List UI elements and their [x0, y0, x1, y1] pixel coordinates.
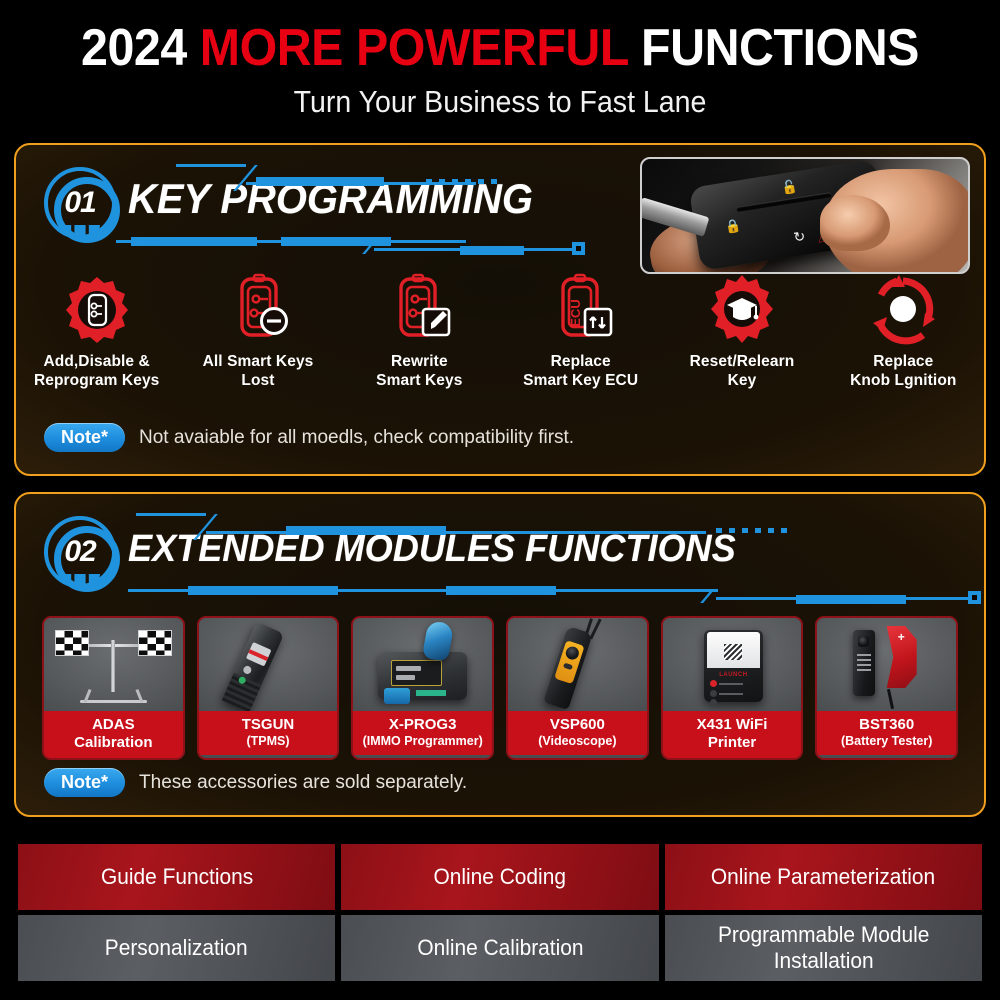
feature-label-line1: Rewrite — [391, 353, 448, 370]
product-caption: X431 WiFi Printer — [663, 711, 802, 758]
grid-cell-label: Online Coding — [434, 864, 566, 890]
product-name: ADAS — [46, 716, 181, 734]
decor-line-step-top — [176, 164, 246, 167]
note-text: Not avaiable for all moedls, check compa… — [139, 427, 574, 449]
printer-label-line-2 — [719, 693, 742, 695]
decor-line-step-top — [136, 513, 206, 516]
vsp600-body — [543, 626, 592, 710]
bst360-button — [858, 636, 869, 647]
product-subtitle: (Videoscope) — [510, 734, 645, 749]
printer-label-line-1 — [719, 683, 742, 685]
decor-line-thick-top — [286, 526, 446, 535]
feature-label-line2: Smart Key ECU — [523, 372, 638, 389]
feature-label-line1: Replace — [873, 353, 933, 370]
section-01-note: Note* Not avaiable for all moedls, check… — [44, 423, 574, 452]
feature-label-line1: Replace — [551, 353, 611, 370]
feature-replace-smart-key-ecu[interactable]: ECU Replace Smart Key ECU — [500, 273, 661, 391]
decor-line-thick-bottom-3 — [460, 246, 524, 255]
tsgun-tpms-tool-image — [199, 618, 338, 711]
grid-cell-online-calibration[interactable]: Online Calibration — [341, 915, 658, 981]
printer-button-2 — [710, 699, 717, 706]
grid-cell-guide-functions[interactable]: Guide Functions — [18, 844, 335, 910]
gear-with-key-fob-icon — [16, 273, 177, 345]
decor-line-thin-bottom-2 — [358, 589, 718, 592]
product-card-row: ADAS Calibration TSGUN (TPMS) — [42, 616, 958, 760]
printer-power-led — [710, 680, 717, 687]
x431-wifi-printer-image: LAUNCH — [663, 618, 802, 711]
xprog3-contact-row-2 — [396, 675, 416, 680]
function-grid: Guide Functions Online Coding Online Par… — [18, 844, 982, 981]
vsp600-videoscope-image — [508, 618, 647, 711]
feature-label-line2: Key — [728, 372, 757, 389]
key-fob-photo: 🔒 🔓 ⚓ ↻ △ — [640, 157, 970, 274]
feature-label: Replace Knob Lgnition — [823, 353, 984, 391]
product-card-xprog3[interactable]: X-PROG3 (IMMO Programmer) — [351, 616, 494, 760]
feature-label: All Smart Keys Lost — [177, 353, 338, 391]
product-name: X431 WiFi — [665, 716, 800, 734]
section-02-number: 02 — [48, 520, 112, 584]
page-header: 2024 MORE POWERFUL FUNCTIONS Turn Your B… — [0, 0, 1000, 120]
feature-label-line2: Smart Keys — [376, 372, 462, 389]
product-caption: BST360 (Battery Tester) — [817, 711, 956, 755]
bst360-label — [857, 654, 871, 674]
decor-line-dots — [716, 528, 794, 533]
note-badge: Note* — [44, 423, 125, 452]
decor-line-thick-bottom-3 — [796, 595, 906, 604]
note-text: These accessories are sold separately. — [139, 772, 467, 794]
feature-label: Rewrite Smart Keys — [339, 353, 500, 391]
page-subtitle: Turn Your Business to Fast Lane — [40, 84, 960, 120]
key-fob-pencil-icon — [339, 273, 500, 345]
feature-all-smart-keys-lost[interactable]: All Smart Keys Lost — [177, 273, 338, 391]
tsgun-button — [242, 665, 253, 676]
product-name: X-PROG3 — [355, 716, 490, 734]
grid-cell-online-parameterization[interactable]: Online Parameterization — [665, 844, 982, 910]
adas-target-left — [55, 630, 89, 656]
decor-line-thick-top — [256, 177, 384, 186]
lock-icon: 🔒 — [724, 219, 742, 234]
xprog3-body — [378, 652, 467, 700]
x-prog3-immo-programmer-image — [353, 618, 492, 711]
feature-rewrite-smart-keys[interactable]: Rewrite Smart Keys — [339, 273, 500, 391]
feature-label: Add,Disable & Reprogram Keys — [16, 353, 177, 391]
note-badge: Note* — [44, 768, 125, 797]
page-title-emphasis: MORE POWERFUL — [200, 19, 628, 77]
product-card-adas[interactable]: ADAS Calibration — [42, 616, 185, 760]
section-extended-modules: 02 EXTENDED MODULES FUNCTIONS — [14, 492, 986, 817]
product-caption: TSGUN (TPMS) — [199, 711, 338, 755]
printer-paper — [707, 632, 761, 668]
grid-cell-online-coding[interactable]: Online Coding — [341, 844, 658, 910]
xprog3-contact-row — [396, 666, 422, 671]
grid-cell-personalization[interactable]: Personalization — [18, 915, 335, 981]
promo-page: 2024 MORE POWERFUL FUNCTIONS Turn Your B… — [0, 0, 1000, 1000]
feature-add-disable-reprogram[interactable]: Add,Disable & Reprogram Keys — [16, 273, 177, 391]
feature-label: Reset/Relearn Key — [661, 353, 822, 391]
adas-pole — [111, 640, 115, 692]
product-card-tsgun[interactable]: TSGUN (TPMS) — [197, 616, 340, 760]
product-subtitle: Printer — [665, 734, 800, 752]
xprog3-green-chip — [416, 690, 446, 696]
bst360-wire — [887, 689, 894, 709]
decor-line-thin-bottom — [116, 240, 281, 243]
unlock-icon: 🔓 — [781, 179, 799, 194]
section-01-number: 01 — [48, 171, 112, 235]
product-name: VSP600 — [510, 716, 645, 734]
grid-cell-label: Personalization — [105, 935, 248, 961]
feature-label-line1: Add,Disable & — [43, 353, 149, 370]
section-key-programming: 01 KEY PROGRAMMING 🔒 🔓 — [14, 143, 986, 476]
grid-cell-label: Online Parameterization — [711, 864, 935, 890]
section-02-badge: 02 — [44, 516, 116, 588]
product-name: TSGUN — [201, 716, 336, 734]
adas-target-right — [138, 630, 172, 656]
feature-label-line1: Reset/Relearn — [690, 353, 795, 370]
tsgun-body — [221, 622, 283, 711]
decor-line-dots — [426, 179, 504, 184]
page-title: 2024 MORE POWERFUL FUNCTIONS — [35, 22, 965, 74]
bst360-battery-tester-image: + — [817, 618, 956, 711]
product-caption: X-PROG3 (IMMO Programmer) — [353, 711, 492, 755]
section-01-badge: 01 — [44, 167, 116, 239]
feature-label: Replace Smart Key ECU — [500, 353, 661, 391]
grid-cell-label: Programmable Module Installation — [680, 922, 966, 975]
decor-line-terminal — [968, 591, 981, 604]
feature-label-line1: All Smart Keys — [203, 353, 314, 370]
svg-text:ECU: ECU — [568, 299, 583, 326]
product-card-vsp600[interactable]: VSP600 (Videoscope) — [506, 616, 649, 760]
grid-cell-programmable-module-installation[interactable]: Programmable Module Installation — [665, 915, 982, 981]
circular-arrows-knob-icon — [823, 273, 984, 345]
page-title-year: 2024 — [81, 19, 187, 77]
bst360-tester-body — [853, 630, 875, 696]
page-title-tail: FUNCTIONS — [641, 19, 919, 77]
decor-line-thin-bottom — [128, 589, 358, 592]
printer-button-1 — [710, 690, 717, 697]
gear-graduation-cap-icon — [661, 273, 822, 345]
product-subtitle: Calibration — [46, 734, 181, 752]
product-subtitle: (TPMS) — [201, 734, 336, 749]
decor-line-thin-top — [206, 531, 706, 534]
product-name: BST360 — [819, 716, 954, 734]
grid-cell-label: Guide Functions — [101, 864, 253, 890]
product-card-x431-printer[interactable]: LAUNCH X431 WiFi Printer — [661, 616, 804, 760]
product-subtitle: (Battery Tester) — [819, 734, 954, 749]
feature-label-line2: Reprogram Keys — [34, 372, 159, 389]
grid-cell-label: Online Calibration — [417, 935, 583, 961]
printer-qr-logo — [724, 644, 742, 660]
key-fob-ecu-swap-icon: ECU — [500, 273, 661, 345]
printer-body: LAUNCH — [704, 630, 762, 702]
feature-reset-relearn-key[interactable]: Reset/Relearn Key — [661, 273, 822, 391]
decor-line-terminal — [572, 242, 585, 255]
remote-start-icon: ↻ — [792, 229, 806, 245]
section-02-header: 02 EXTENDED MODULES FUNCTIONS — [16, 494, 984, 602]
product-caption: ADAS Calibration — [44, 711, 183, 758]
key-fob-minus-icon — [177, 273, 338, 345]
feature-label-line2: Lost — [241, 372, 274, 389]
product-card-bst360[interactable]: + BST360 (Battery Tester) — [815, 616, 958, 760]
xprog3-blue-connector — [384, 688, 411, 704]
key-programming-feature-row: Add,Disable & Reprogram Keys — [16, 273, 984, 391]
feature-replace-knob-ignition[interactable]: Replace Knob Lgnition — [823, 273, 984, 391]
printer-brand-text: LAUNCH — [704, 672, 762, 678]
bst360-plus-marking: + — [898, 630, 905, 644]
xprog3-socket-area — [391, 660, 442, 686]
adas-base — [80, 700, 147, 703]
section-02-note: Note* These accessories are sold separat… — [44, 768, 467, 797]
product-subtitle: (IMMO Programmer) — [355, 734, 490, 749]
product-caption: VSP600 (Videoscope) — [508, 711, 647, 755]
feature-label-line2: Knob Lgnition — [850, 372, 956, 389]
adas-calibration-frame-image — [44, 618, 183, 711]
